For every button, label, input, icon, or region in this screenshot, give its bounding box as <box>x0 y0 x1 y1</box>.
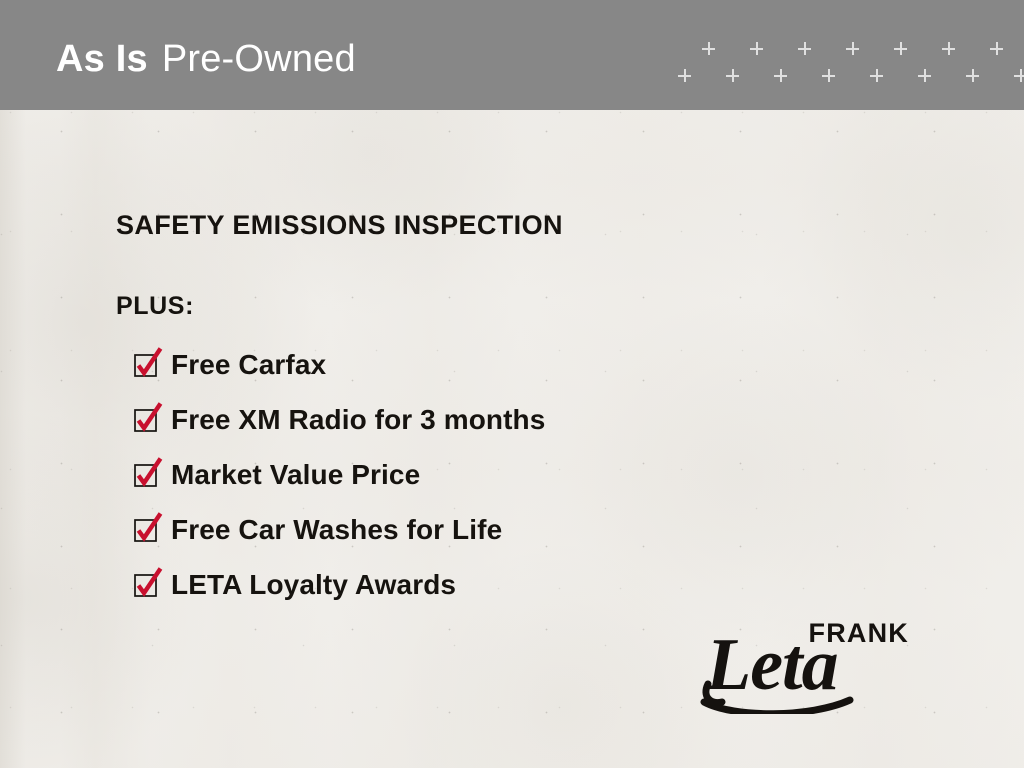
plus-mark-icon <box>798 42 811 55</box>
header-band: As IsPre-Owned <box>0 0 1024 110</box>
plus-mark-icon <box>678 69 691 82</box>
list-item: Free Carfax <box>135 337 896 392</box>
subtitle-heading: SAFETY EMISSIONS INSPECTION <box>116 208 896 242</box>
plus-mark-icon <box>894 42 907 55</box>
list-item-label: Free Car Washes for Life <box>171 513 502 547</box>
checked-checkbox-icon <box>135 465 156 486</box>
checked-checkbox-icon <box>135 410 156 431</box>
page-title-bold: As Is <box>56 38 148 80</box>
list-item-label: LETA Loyalty Awards <box>171 568 456 602</box>
list-item-label: Free XM Radio for 3 months <box>171 403 545 437</box>
plus-mark-icon <box>1014 69 1024 82</box>
plus-mark-icon <box>822 69 835 82</box>
plus-mark-icon <box>726 69 739 82</box>
logo-leta-script: Leta <box>700 626 915 714</box>
list-item: Free Car Washes for Life <box>135 502 896 557</box>
checked-checkbox-icon <box>135 575 156 596</box>
slide-content: SAFETY EMISSIONS INSPECTION PLUS: Free C… <box>116 208 896 612</box>
brand-logo: FRANK Leta <box>700 608 915 714</box>
plus-mark-icon <box>966 69 979 82</box>
checked-checkbox-icon <box>135 520 156 541</box>
list-item: LETA Loyalty Awards <box>135 557 896 612</box>
plus-mark-icon <box>846 42 859 55</box>
list-item-label: Market Value Price <box>171 458 420 492</box>
svg-text:Leta: Leta <box>705 626 838 706</box>
plus-mark-icon <box>918 69 931 82</box>
plus-mark-icon <box>774 69 787 82</box>
plus-mark-icon <box>702 42 715 55</box>
list-item: Free XM Radio for 3 months <box>135 392 896 447</box>
plus-mark-icon <box>870 69 883 82</box>
plus-mark-icon <box>942 42 955 55</box>
benefit-list: Free Carfax Free XM Radio for 3 months <box>135 337 896 612</box>
plus-mark-icon <box>750 42 763 55</box>
plus-pattern-decoration <box>672 38 1012 88</box>
page-title-light: Pre-Owned <box>162 38 356 80</box>
plus-mark-icon <box>990 42 1003 55</box>
plus-section-label: PLUS: <box>116 291 896 321</box>
list-item-label: Free Carfax <box>171 348 326 382</box>
checked-checkbox-icon <box>135 355 156 376</box>
slide-canvas: As IsPre-Owned SAFETY EMISSIONS INSPECTI… <box>0 0 1024 768</box>
page-title: As IsPre-Owned <box>56 36 356 82</box>
list-item: Market Value Price <box>135 447 896 502</box>
